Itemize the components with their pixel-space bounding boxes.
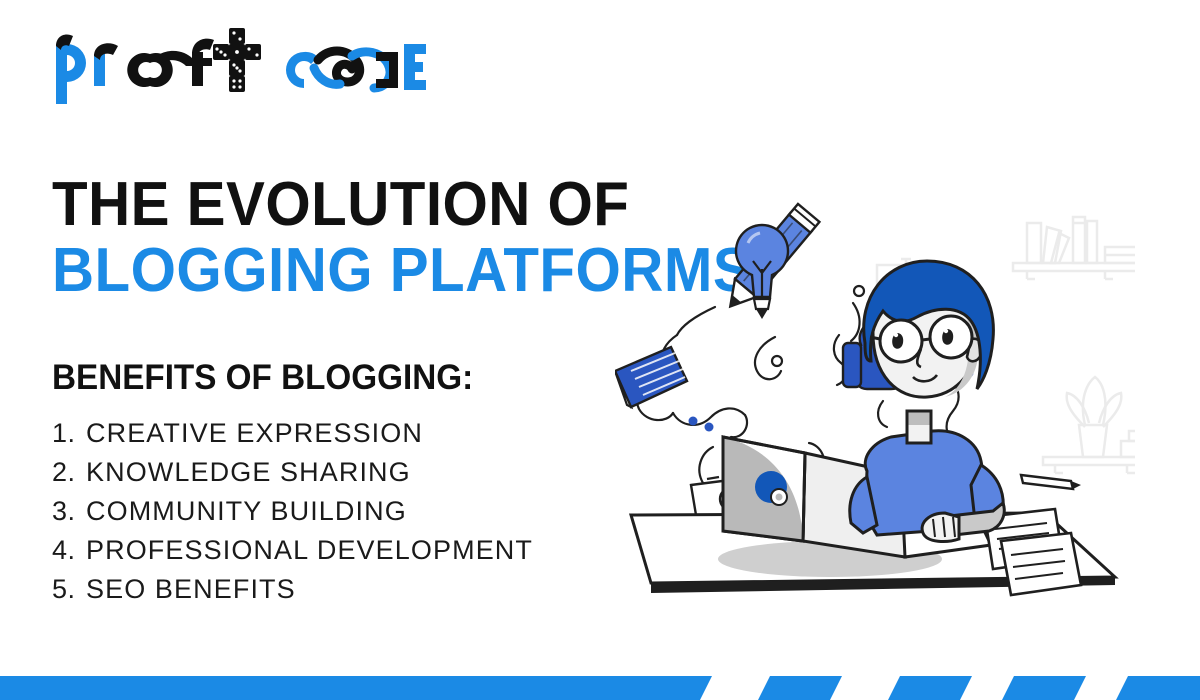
benefits-section: BENEFITS OF BLOGGING: 1.CREATIVE EXPRESS… (52, 358, 672, 609)
title-line-2: BLOGGING PLATFORMS (52, 238, 654, 304)
list-item-label: COMMUNITY BUILDING (86, 496, 407, 526)
plant-shelf-outline (1043, 377, 1135, 473)
stripe-4 (1116, 676, 1200, 700)
dice-cross-icon (213, 28, 261, 92)
list-item-number: 1. (52, 414, 86, 453)
stripe-2 (888, 676, 972, 700)
bookshelf-outline (1013, 217, 1135, 279)
page-title: THE EVOLUTION OF BLOGGING PLATFORMS (52, 172, 692, 304)
title-line-1: THE EVOLUTION OF (52, 172, 654, 238)
list-item-label: KNOWLEDGE SHARING (86, 457, 411, 487)
list-item: 1.CREATIVE EXPRESSION (52, 414, 672, 453)
stripe-solid (0, 676, 712, 700)
list-item: 2.KNOWLEDGE SHARING (52, 453, 672, 492)
list-item-label: SEO BENEFITS (86, 574, 296, 604)
book-icon (615, 347, 687, 407)
list-item: 3.COMMUNITY BUILDING (52, 492, 672, 531)
logo-letter-r (94, 43, 118, 86)
brand-logo[interactable]: proficode (46, 24, 426, 104)
benefits-list: 1.CREATIVE EXPRESSION 2.KNOWLEDGE SHARIN… (52, 414, 672, 609)
stripe-1 (758, 676, 842, 700)
list-item-number: 2. (52, 453, 86, 492)
logo-letter-e (404, 44, 426, 90)
logo-letter-p (56, 34, 86, 104)
desk-pencil-icon (1021, 475, 1081, 489)
list-item-label: PROFESSIONAL DEVELOPMENT (86, 535, 533, 565)
decorative-stripe-bar (0, 676, 1200, 700)
logo-letter-f (186, 39, 214, 86)
list-item: 5.SEO BENEFITS (52, 570, 672, 609)
benefits-heading: BENEFITS OF BLOGGING: (52, 358, 641, 398)
list-item-number: 4. (52, 531, 86, 570)
stripe-3 (1002, 676, 1086, 700)
poster-canvas: proficode THE EVOLUTION OF BLOGGING PLAT… (0, 0, 1200, 700)
blogger-at-desk-illustration (615, 185, 1135, 620)
list-item-label: CREATIVE EXPRESSION (86, 418, 423, 448)
person-with-glasses (850, 261, 1004, 541)
logo-letter-o (127, 51, 192, 87)
list-item-number: 5. (52, 570, 86, 609)
list-item-number: 3. (52, 492, 86, 531)
list-item: 4.PROFESSIONAL DEVELOPMENT (52, 531, 672, 570)
